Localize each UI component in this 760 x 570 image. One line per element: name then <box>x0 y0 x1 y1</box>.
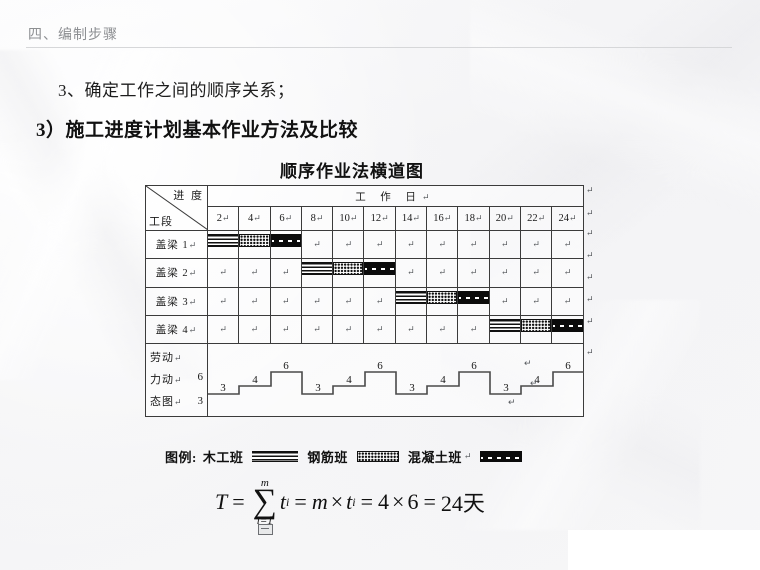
chart-title: 顺序作业法横道图 <box>280 157 424 182</box>
day-header-24: 24↵ <box>552 207 583 231</box>
row-label-beam-3: 盖梁 3↵ <box>146 287 208 315</box>
paragraph-mark: ↵ <box>381 213 389 223</box>
cell-empty: ↵ <box>395 259 426 287</box>
cell-empty: ↵ <box>208 315 239 343</box>
formula-lhs: T <box>215 489 227 515</box>
svg-text:6: 6 <box>471 360 477 372</box>
cell-empty: ↵ <box>239 259 270 287</box>
bar-concrete-beam1 <box>270 231 301 259</box>
cell-empty: ↵ <box>489 287 520 315</box>
svg-text:3: 3 <box>409 382 415 394</box>
labor-axis-high: 6 <box>198 371 204 383</box>
cell-empty: ↵ <box>270 315 301 343</box>
bar-concrete-beam4 <box>552 315 583 343</box>
formula-times-2: × <box>392 489 404 515</box>
cell-empty: ↵ <box>458 259 489 287</box>
paragraph-mark: ↵ <box>316 213 324 223</box>
paragraph-mark: ↵ <box>189 325 198 335</box>
bar-rebar-beam3 <box>427 287 458 315</box>
day-header-4: 4↵ <box>239 207 270 231</box>
svg-text:↵: ↵ <box>530 378 538 388</box>
paragraph-mark: ↵ <box>350 213 358 223</box>
table-row: 盖梁 2↵ ↵ ↵ ↵ ↵ ↵ ↵ ↵ ↵ ↵ <box>146 259 584 287</box>
paragraph-mark: ↵ <box>586 209 600 218</box>
legend-swatch-rebar <box>357 451 399 462</box>
bottom-right-plate <box>568 530 760 570</box>
cell-empty: ↵ <box>333 315 364 343</box>
cell-empty: ↵ <box>333 287 364 315</box>
paragraph-mark: ↵ <box>222 213 230 223</box>
slide: 四、编制步骤 3、确定工作之间的顺序关系； 3）施工进度计划基本作业方法及比较 … <box>0 0 760 570</box>
cell-empty: ↵ <box>270 259 301 287</box>
bar-wood-beam1 <box>208 231 239 259</box>
gantt-table: 进 度 工段 工 作 日↵ 2↵ 4↵ 6↵ 8↵ 10↵ 12↵ 14↵ 16… <box>145 185 584 417</box>
svg-text:↵: ↵ <box>508 397 516 407</box>
formula-term-t1-sub: i <box>286 495 289 510</box>
paragraph-mark: ↵ <box>174 397 183 407</box>
row-label-beam-1: 盖梁 1↵ <box>146 231 208 259</box>
paragraph-mark: ↵ <box>586 186 600 195</box>
bar-rebar-beam4 <box>520 315 551 343</box>
cell-empty: ↵ <box>301 315 332 343</box>
paragraph-mark: ↵ <box>189 268 198 278</box>
svg-text:3: 3 <box>503 382 509 394</box>
legend-label-wood: 木工班 <box>203 447 244 466</box>
svg-text:3: 3 <box>220 382 226 394</box>
labor-curve-plot: 3 4 6 3 4 6 3 4 6 3 4 6 <box>208 344 584 417</box>
legend-paragraph-mark: ↵ <box>464 452 472 461</box>
corner-label-section: 工段 <box>149 213 173 229</box>
day-header-14: 14↵ <box>395 207 426 231</box>
cell-empty: ↵ <box>208 259 239 287</box>
corner-label-progress: 进 度 <box>173 187 204 203</box>
row-label-beam-4: 盖梁 4↵ <box>146 315 208 343</box>
bar-rebar-beam2 <box>333 259 364 287</box>
duration-formula: T = m ∑ i=1 ti = m × ti = 4 × 6 = 24天 <box>215 478 485 527</box>
formula-term-m: m <box>312 489 328 515</box>
paragraph-mark: ↵ <box>586 229 600 238</box>
outside-paragraph-marks: ↵ ↵ ↵ ↵ ↵ ↵ ↵ ↵ <box>586 186 600 357</box>
bar-wood-beam3 <box>395 287 426 315</box>
paragraph-mark: ↵ <box>174 375 183 385</box>
work-day-header: 工 作 日↵ <box>208 186 584 207</box>
sigma-glyph: ∑ <box>253 489 277 516</box>
day-header-12: 12↵ <box>364 207 395 231</box>
bar-concrete-beam3 <box>458 287 489 315</box>
formula-num-1: 4 <box>378 489 389 515</box>
cell-empty: ↵ <box>489 231 520 259</box>
section-title: 四、编制步骤 <box>28 24 118 44</box>
svg-text:6: 6 <box>283 360 289 372</box>
formula-num-2: 6 <box>407 489 418 515</box>
summation-symbol: m ∑ i=1 <box>253 478 277 527</box>
paragraph-mark: ↵ <box>253 213 261 223</box>
gantt-chart: 进 度 工段 工 作 日↵ 2↵ 4↵ 6↵ 8↵ 10↵ 12↵ 14↵ 16… <box>145 185 583 417</box>
cell-empty: ↵ <box>395 231 426 259</box>
table-header-row-2: 2↵ 4↵ 6↵ 8↵ 10↵ 12↵ 14↵ 16↵ 18↵ 20↵ 22↵ … <box>146 207 584 231</box>
cell-empty: ↵ <box>458 315 489 343</box>
cell-empty: ↵ <box>239 315 270 343</box>
svg-text:4: 4 <box>440 374 446 386</box>
svg-text:↵: ↵ <box>524 358 532 368</box>
cell-empty: ↵ <box>458 231 489 259</box>
labor-curve-row: 劳动↵ 力动↵ 态图↵ 6 3 3 4 6 <box>146 344 584 417</box>
paragraph-mark: ↵ <box>506 213 514 223</box>
paragraph-mark: ↵ <box>444 213 452 223</box>
legend-prefix: 图例: <box>165 447 197 466</box>
object-handle-icon <box>258 524 273 535</box>
svg-text:4: 4 <box>252 374 258 386</box>
paragraph-mark: ↵ <box>569 213 577 223</box>
svg-text:6: 6 <box>565 360 571 372</box>
cell-empty: ↵ <box>552 259 583 287</box>
table-header-row-1: 进 度 工段 工 作 日↵ <box>146 186 584 207</box>
formula-eq-1: = <box>232 489 244 515</box>
cell-empty: ↵ <box>520 231 551 259</box>
cell-empty: ↵ <box>270 287 301 315</box>
bar-concrete-beam2 <box>364 259 395 287</box>
day-header-20: 20↵ <box>489 207 520 231</box>
cell-empty: ↵ <box>552 231 583 259</box>
header-divider <box>26 47 732 48</box>
corner-cell: 进 度 工段 <box>146 186 208 231</box>
cell-empty: ↵ <box>364 287 395 315</box>
formula-times-1: × <box>331 489 343 515</box>
cell-empty: ↵ <box>427 231 458 259</box>
cell-empty: ↵ <box>364 231 395 259</box>
formula-result: 24天 <box>441 486 485 518</box>
paragraph-mark: ↵ <box>189 297 198 307</box>
legend: 图例: 木工班 钢筋班 混凝土班 ↵ <box>165 447 531 466</box>
cell-empty: ↵ <box>395 315 426 343</box>
paragraph-mark: ↵ <box>586 251 600 260</box>
formula-term-t2-sub: i <box>352 495 355 510</box>
paragraph-mark: ↵ <box>422 192 436 202</box>
row-label-beam-2: 盖梁 2↵ <box>146 259 208 287</box>
paragraph-mark: ↵ <box>475 213 483 223</box>
cell-empty: ↵ <box>239 287 270 315</box>
paragraph-mark: ↵ <box>174 353 183 363</box>
formula-eq-2: = <box>294 489 306 515</box>
day-header-8: 8↵ <box>301 207 332 231</box>
formula-eq-3: = <box>361 489 373 515</box>
table-row: 盖梁 4↵ ↵ ↵ ↵ ↵ ↵ ↵ ↵ ↵ ↵ <box>146 315 584 343</box>
labor-label-line-1: 劳动↵ <box>150 349 183 365</box>
paragraph-mark: ↵ <box>586 317 600 326</box>
day-header-2: 2↵ <box>208 207 239 231</box>
cell-empty: ↵ <box>301 287 332 315</box>
paragraph-mark: ↵ <box>586 273 600 282</box>
cell-empty: ↵ <box>301 231 332 259</box>
table-row: 盖梁 1↵ ↵ ↵ ↵ ↵ ↵ ↵ ↵ ↵ ↵ <box>146 231 584 259</box>
cell-empty: ↵ <box>427 315 458 343</box>
paragraph-mark: ↵ <box>586 348 600 357</box>
day-header-16: 16↵ <box>427 207 458 231</box>
paragraph-mark: ↵ <box>538 213 546 223</box>
table-row: 盖梁 3↵ ↵ ↵ ↵ ↵ ↵ ↵ ↵ ↵ ↵ <box>146 287 584 315</box>
cell-empty: ↵ <box>208 287 239 315</box>
paragraph-mark: ↵ <box>412 213 420 223</box>
cell-empty: ↵ <box>552 287 583 315</box>
paragraph-mark: ↵ <box>285 213 293 223</box>
cell-empty: ↵ <box>364 315 395 343</box>
subsection-heading: 3）施工进度计划基本作业方法及比较 <box>36 115 358 142</box>
paragraph-mark: ↵ <box>586 295 600 304</box>
labor-step-curve-icon: 3 4 6 3 4 6 3 4 6 3 4 6 <box>208 344 584 416</box>
cell-empty: ↵ <box>489 259 520 287</box>
svg-text:4: 4 <box>346 374 352 386</box>
cell-empty: ↵ <box>520 287 551 315</box>
labor-label-line-2: 力动↵ <box>150 371 183 387</box>
step-line: 3、确定工作之间的顺序关系； <box>58 76 295 101</box>
day-header-22: 22↵ <box>520 207 551 231</box>
svg-text:6: 6 <box>377 360 383 372</box>
legend-label-concrete: 混凝土班 <box>408 447 462 466</box>
bar-wood-beam2 <box>301 259 332 287</box>
day-header-10: 10↵ <box>333 207 364 231</box>
labor-axis-low: 3 <box>198 395 204 407</box>
formula-eq-4: = <box>423 489 435 515</box>
day-header-6: 6↵ <box>270 207 301 231</box>
bar-rebar-beam1 <box>239 231 270 259</box>
cell-empty: ↵ <box>520 259 551 287</box>
svg-text:3: 3 <box>315 382 321 394</box>
bar-wood-beam4 <box>489 315 520 343</box>
legend-swatch-wood <box>252 451 298 462</box>
cell-empty: ↵ <box>427 259 458 287</box>
legend-label-rebar: 钢筋班 <box>307 447 348 466</box>
labor-label-line-3: 态图↵ <box>150 393 183 409</box>
day-header-18: 18↵ <box>458 207 489 231</box>
labor-curve-label: 劳动↵ 力动↵ 态图↵ 6 3 <box>146 344 208 417</box>
paragraph-mark: ↵ <box>189 240 198 250</box>
legend-swatch-concrete <box>480 451 522 462</box>
cell-empty: ↵ <box>333 231 364 259</box>
